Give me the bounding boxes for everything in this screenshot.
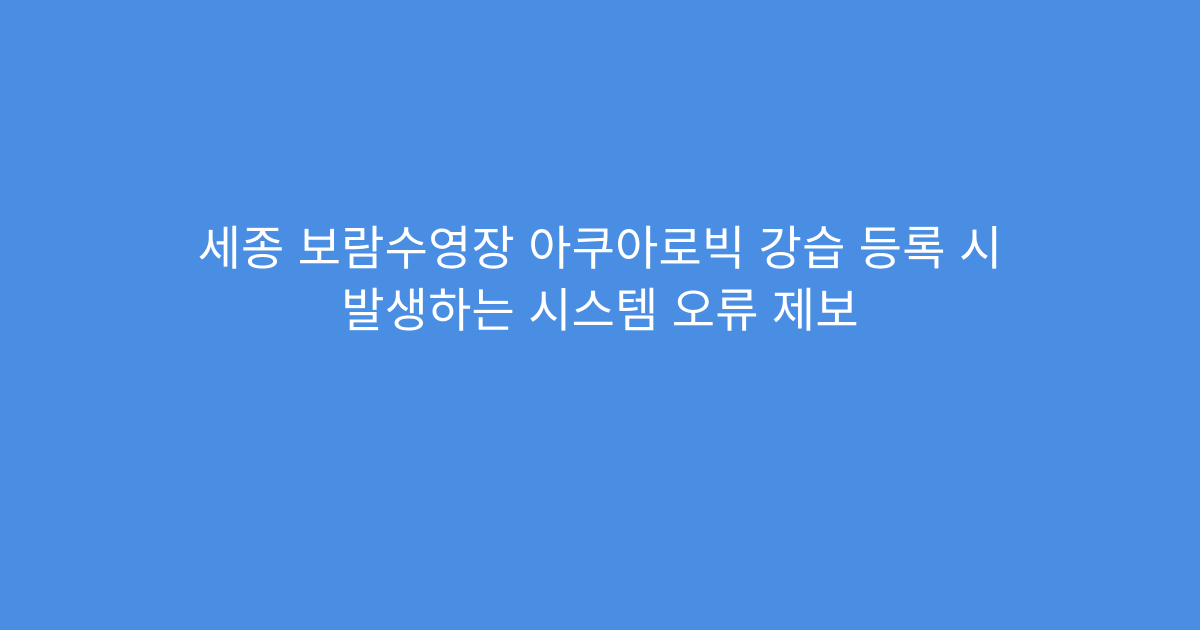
- title-block: 세종 보람수영장 아쿠아로빅 강습 등록 시 발생하는 시스템 오류 제보: [70, 218, 1130, 342]
- page-title: 세종 보람수영장 아쿠아로빅 강습 등록 시 발생하는 시스템 오류 제보: [86, 218, 1114, 342]
- og-card: 세종 보람수영장 아쿠아로빅 강습 등록 시 발생하는 시스템 오류 제보: [0, 0, 1200, 630]
